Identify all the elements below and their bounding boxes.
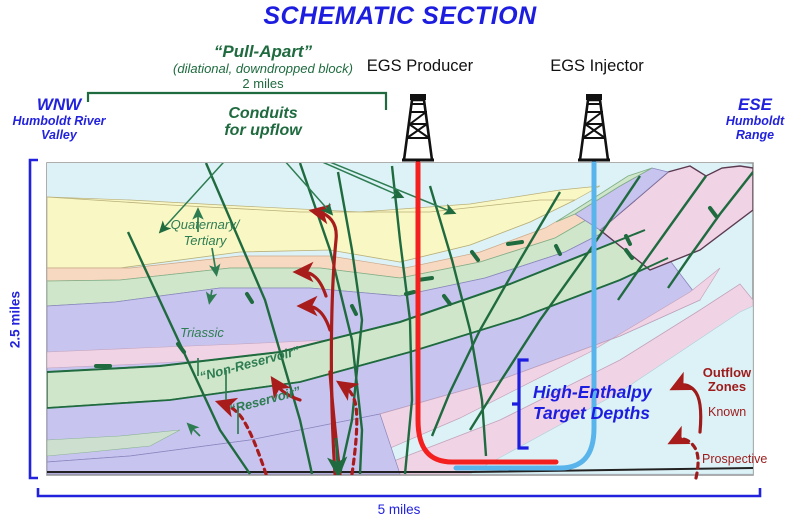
vertical-scale-bracket <box>30 160 38 478</box>
unit-label-quaternary-line2: Tertiary <box>150 234 260 249</box>
legend-known-label: Known <box>708 405 788 419</box>
cross-section-canvas <box>0 0 800 530</box>
horizontal-scale-label: 5 miles <box>349 502 449 517</box>
schematic-section-figure: SCHEMATIC SECTION “Pull-Apart” (dilation… <box>0 0 800 530</box>
high-enthalpy-label-line2: Target Depths <box>533 403 703 424</box>
producer-derrick-icon <box>402 94 434 160</box>
legend-title-line2: Zones <box>672 380 782 395</box>
vertical-scale-label: 2.5 miles <box>7 285 22 355</box>
geologic-units <box>47 140 753 474</box>
legend-prospective-label: Prospective <box>702 452 798 466</box>
unit-label-triassic: Triassic <box>152 326 252 341</box>
horizontal-scale-bracket <box>38 488 760 496</box>
injector-derrick-icon <box>578 94 610 160</box>
high-enthalpy-label-line1: High-Enthalpy <box>533 382 693 403</box>
pull-apart-bracket <box>88 93 386 110</box>
unit-label-quaternary-line1: Quaternary/ <box>150 218 260 233</box>
